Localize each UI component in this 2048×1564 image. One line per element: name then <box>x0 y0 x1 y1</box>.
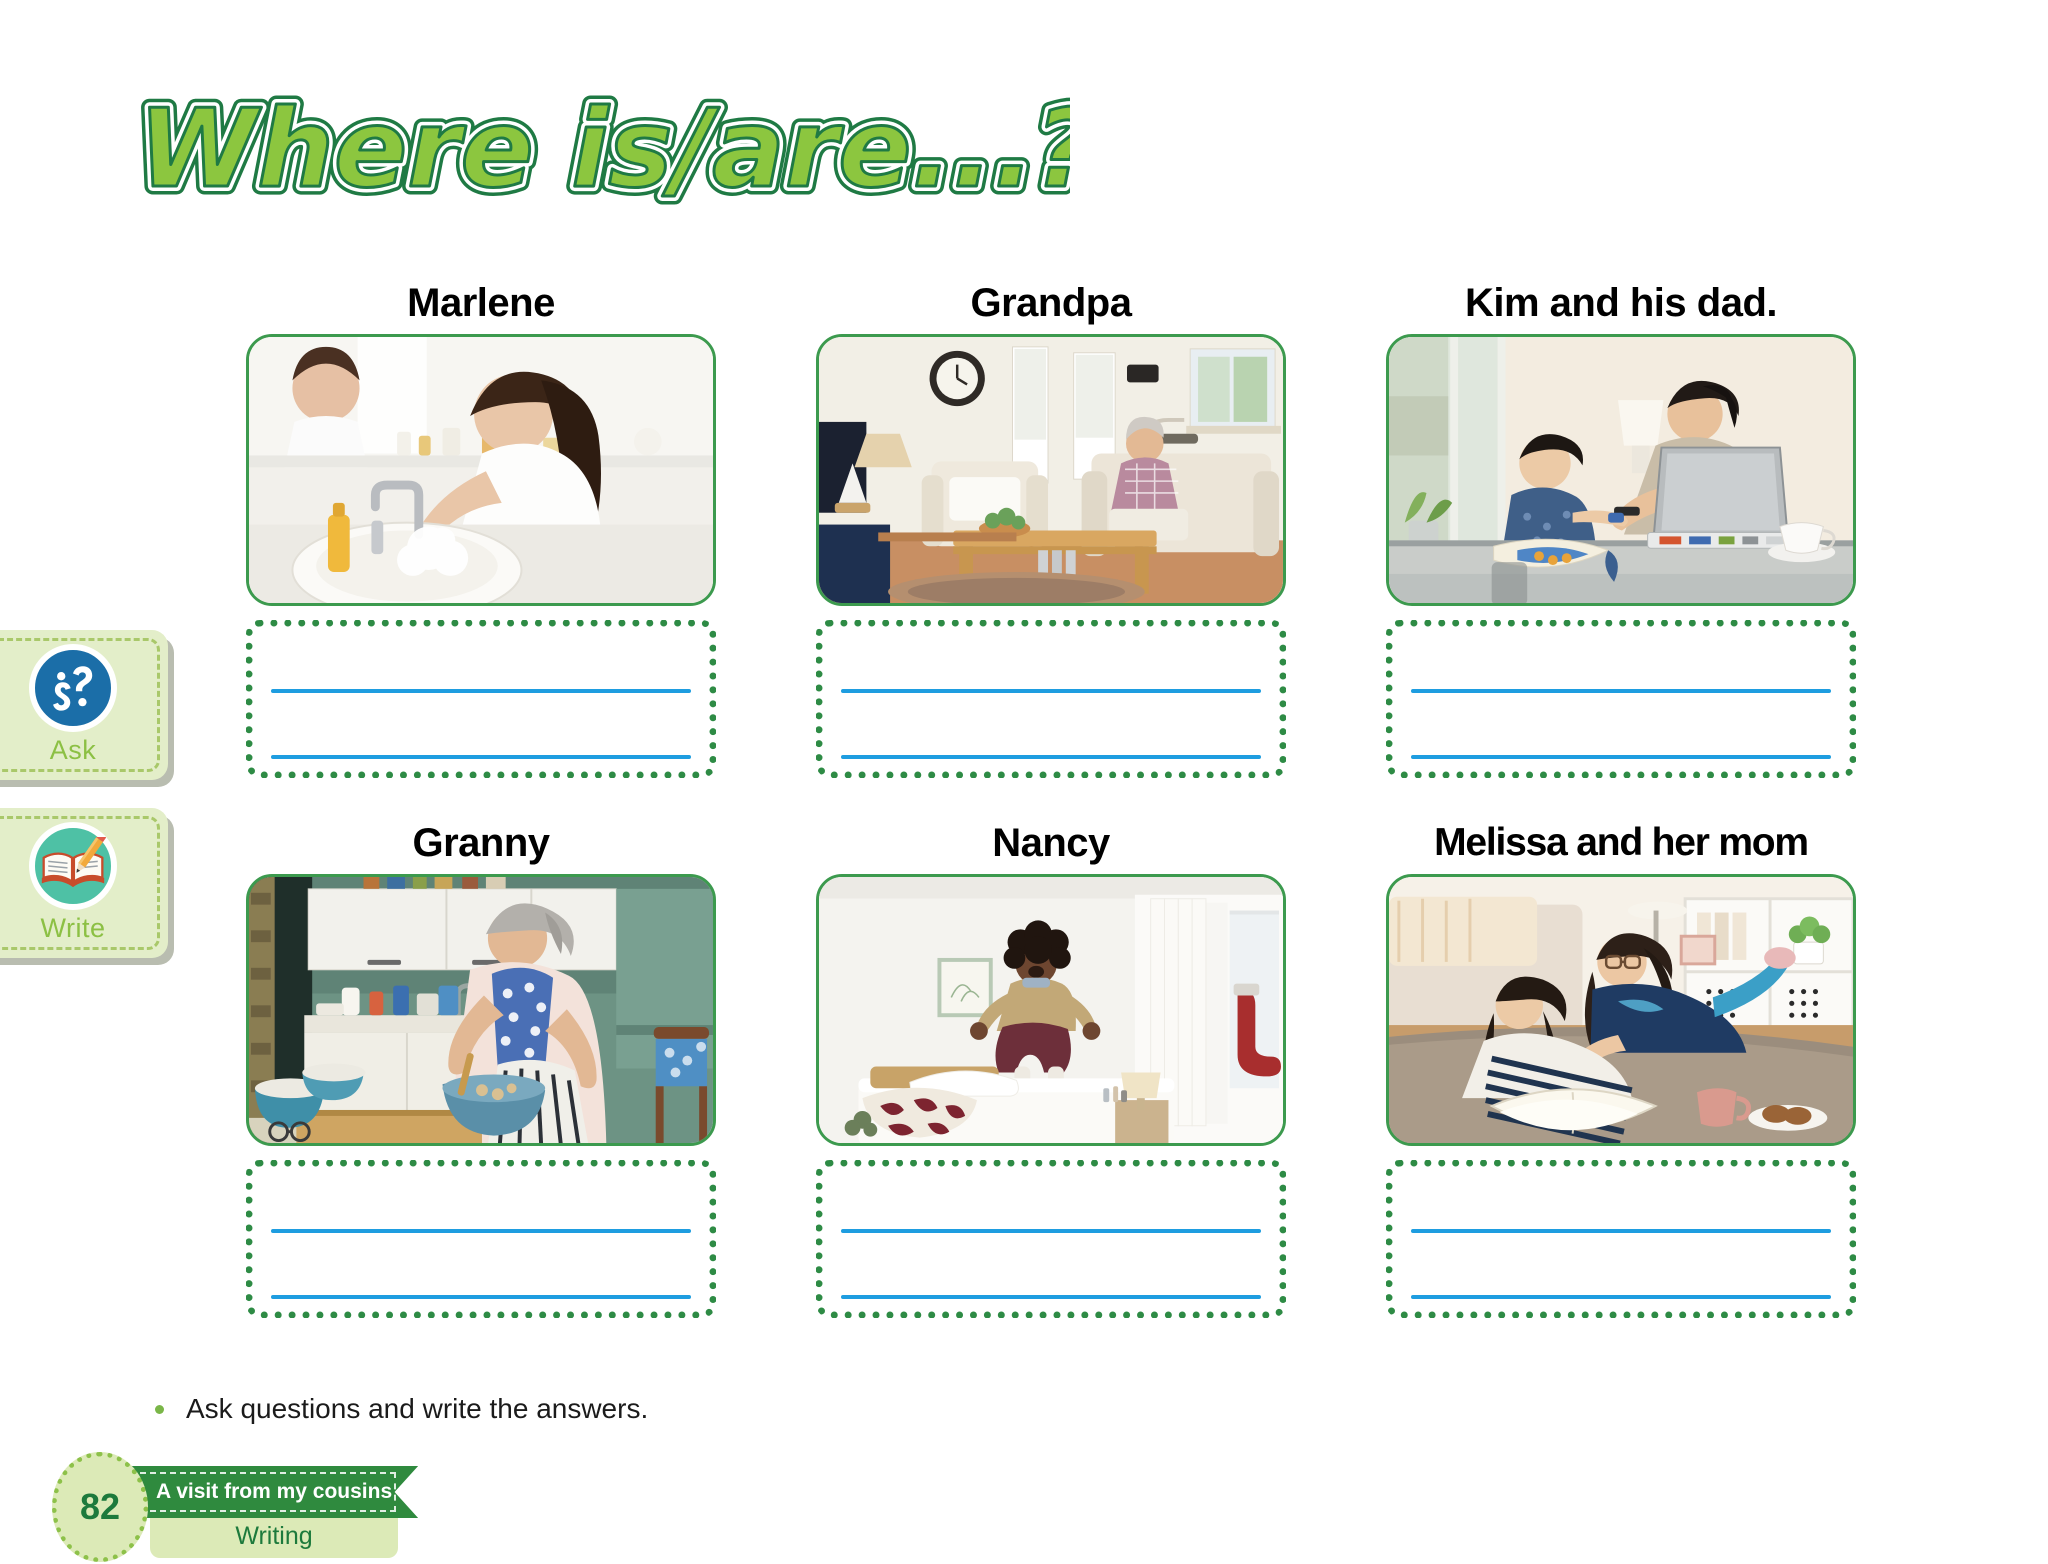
grid-row-2: Granny <box>246 820 1856 1318</box>
photo-kim-art <box>1389 337 1853 606</box>
instruction-text: Ask questions and write the answers. <box>186 1393 648 1425</box>
skill-label-ask: Ask <box>0 735 168 766</box>
writing-line[interactable] <box>841 1229 1261 1233</box>
photo-nancy <box>816 874 1286 1146</box>
answer-box-kim[interactable] <box>1386 620 1856 778</box>
bullet-icon <box>155 1405 164 1414</box>
question-mark-icon <box>29 644 117 732</box>
photo-grandpa-art <box>819 337 1283 606</box>
activity-cell-granny: Granny <box>246 820 716 1318</box>
cell-title-marlene: Marlene <box>246 280 716 326</box>
skill-tag: Writing <box>150 1514 398 1558</box>
activity-cell-nancy: Nancy <box>816 820 1286 1318</box>
grid-row-1: Marlene <box>246 280 1856 778</box>
photo-granny <box>246 874 716 1146</box>
activity-cell-melissa: Melissa and her mom <box>1386 820 1856 1318</box>
instruction-line: Ask questions and write the answers. <box>155 1393 648 1425</box>
skill-tag-text: Writing <box>235 1522 312 1551</box>
unit-title: A visit from my cousins <box>156 1480 392 1504</box>
writing-line[interactable] <box>271 689 691 693</box>
photo-marlene <box>246 334 716 606</box>
page-title: .bubble-text{ font-family:"DejaVu Sans",… <box>130 68 1070 218</box>
writing-line[interactable] <box>841 1295 1261 1299</box>
cell-title-granny: Granny <box>246 820 716 866</box>
cell-title-melissa: Melissa and her mom <box>1386 820 1856 866</box>
writing-line[interactable] <box>1411 1295 1831 1299</box>
page-title-artwork: .bubble-text{ font-family:"DejaVu Sans",… <box>130 68 1070 218</box>
photo-kim <box>1386 334 1856 606</box>
open-book-pencil-glyph <box>40 837 106 895</box>
writing-line[interactable] <box>1411 755 1831 759</box>
answer-box-marlene[interactable] <box>246 620 716 778</box>
page-number-badge: 82 <box>52 1452 148 1562</box>
skill-label-write: Write <box>0 913 168 944</box>
photo-granny-art <box>249 877 713 1146</box>
cell-title-grandpa: Grandpa <box>816 280 1286 326</box>
activity-cell-grandpa: Grandpa <box>816 280 1286 778</box>
answer-box-nancy[interactable] <box>816 1160 1286 1318</box>
open-book-pencil-icon <box>29 822 117 910</box>
question-mark-glyph <box>44 659 102 717</box>
page-footer: A visit from my cousins Writing 82 <box>52 1452 472 1562</box>
writing-line[interactable] <box>841 689 1261 693</box>
skill-badge-ask[interactable]: Ask <box>0 630 168 780</box>
answer-box-grandpa[interactable] <box>816 620 1286 778</box>
writing-line[interactable] <box>1411 689 1831 693</box>
activity-cell-marlene: Marlene <box>246 280 716 778</box>
photo-melissa-art <box>1389 877 1853 1146</box>
answer-box-granny[interactable] <box>246 1160 716 1318</box>
writing-line[interactable] <box>841 755 1261 759</box>
photo-nancy-art <box>819 877 1283 1146</box>
writing-line[interactable] <box>271 755 691 759</box>
skill-badge-write[interactable]: Write <box>0 808 168 958</box>
activity-grid: Marlene <box>246 280 1856 1318</box>
activity-cell-kim: Kim and his dad. <box>1386 280 1856 778</box>
photo-melissa <box>1386 874 1856 1146</box>
cell-title-nancy: Nancy <box>816 820 1286 866</box>
photo-marlene-art <box>249 337 713 606</box>
writing-line[interactable] <box>271 1295 691 1299</box>
writing-line[interactable] <box>1411 1229 1831 1233</box>
photo-grandpa <box>816 334 1286 606</box>
unit-banner: A visit from my cousins <box>124 1466 418 1518</box>
cell-title-kim: Kim and his dad. <box>1386 280 1856 326</box>
writing-line[interactable] <box>271 1229 691 1233</box>
title-fill: Where is/are...? <box>138 87 1070 212</box>
answer-box-melissa[interactable] <box>1386 1160 1856 1318</box>
page-number: 82 <box>80 1486 120 1528</box>
